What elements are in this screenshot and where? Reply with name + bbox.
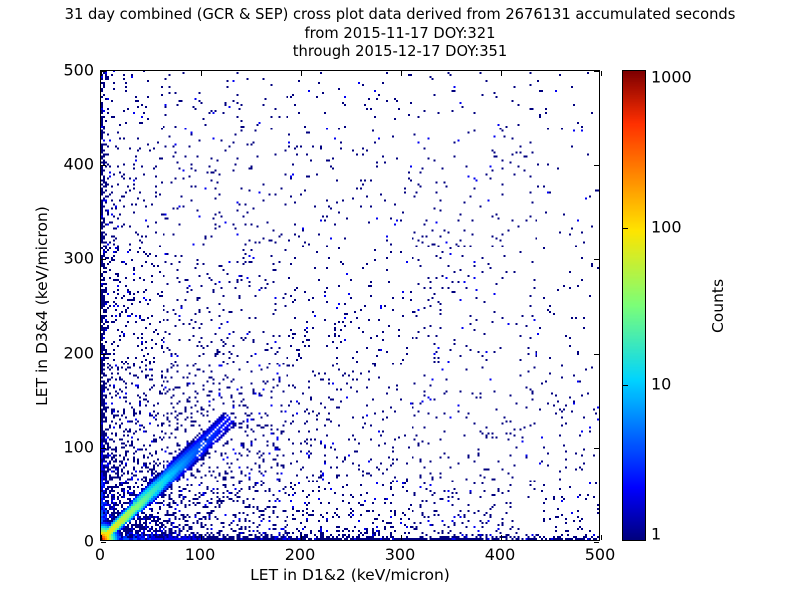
y-tick-label: 100 bbox=[63, 437, 94, 456]
x-tick bbox=[601, 71, 602, 76]
x-tick bbox=[301, 71, 302, 76]
y-tick bbox=[101, 71, 106, 72]
colorbar-tick-label: 100 bbox=[651, 218, 682, 237]
x-tick bbox=[201, 71, 202, 76]
histogram-canvas bbox=[101, 71, 599, 540]
y-tick bbox=[101, 259, 106, 260]
y-tick bbox=[101, 542, 106, 543]
x-tick-label: 0 bbox=[95, 545, 105, 564]
plot-area bbox=[100, 70, 600, 541]
y-tick bbox=[594, 448, 599, 449]
x-tick bbox=[501, 535, 502, 540]
colorbar-tick-label: 10 bbox=[651, 375, 671, 394]
colorbar-label: Counts bbox=[709, 278, 727, 332]
colorbar-gradient bbox=[623, 71, 645, 540]
title-line-2: from 2015-11-17 DOY:321 bbox=[0, 25, 800, 44]
x-tick bbox=[401, 535, 402, 540]
x-tick bbox=[101, 535, 102, 540]
colorbar-tick-label: 1000 bbox=[651, 68, 692, 87]
x-tick bbox=[301, 535, 302, 540]
x-tick-label: 100 bbox=[185, 545, 216, 564]
figure-root: 31 day combined (GCR & SEP) cross plot d… bbox=[0, 0, 800, 600]
x-tick-label: 500 bbox=[585, 545, 616, 564]
figure-title: 31 day combined (GCR & SEP) cross plot d… bbox=[0, 6, 800, 62]
x-tick-label: 200 bbox=[285, 545, 316, 564]
y-tick bbox=[594, 354, 599, 355]
title-line-1: 31 day combined (GCR & SEP) cross plot d… bbox=[0, 6, 800, 25]
x-tick-label: 300 bbox=[385, 545, 416, 564]
y-tick bbox=[101, 165, 106, 166]
y-tick-label: 0 bbox=[84, 532, 94, 551]
colorbar-tick-label: 1 bbox=[651, 525, 661, 544]
y-tick bbox=[594, 259, 599, 260]
y-axis-label: LET in D3&4 (keV/micron) bbox=[33, 206, 51, 406]
x-tick bbox=[601, 535, 602, 540]
y-tick bbox=[594, 542, 599, 543]
y-tick bbox=[594, 71, 599, 72]
x-tick bbox=[401, 71, 402, 76]
y-tick bbox=[101, 448, 106, 449]
y-tick bbox=[101, 354, 106, 355]
y-tick-label: 400 bbox=[63, 155, 94, 174]
x-axis-label: LET in D1&2 (keV/micron) bbox=[100, 566, 600, 584]
y-tick-label: 300 bbox=[63, 249, 94, 268]
x-tick bbox=[201, 535, 202, 540]
colorbar bbox=[622, 70, 646, 541]
y-tick-label: 500 bbox=[63, 61, 94, 80]
colorbar-tick bbox=[623, 228, 628, 229]
y-tick-label: 200 bbox=[63, 343, 94, 362]
x-tick-label: 400 bbox=[485, 545, 516, 564]
x-tick bbox=[501, 71, 502, 76]
y-tick bbox=[594, 165, 599, 166]
title-line-3: through 2015-12-17 DOY:351 bbox=[0, 43, 800, 62]
colorbar-tick bbox=[623, 385, 628, 386]
